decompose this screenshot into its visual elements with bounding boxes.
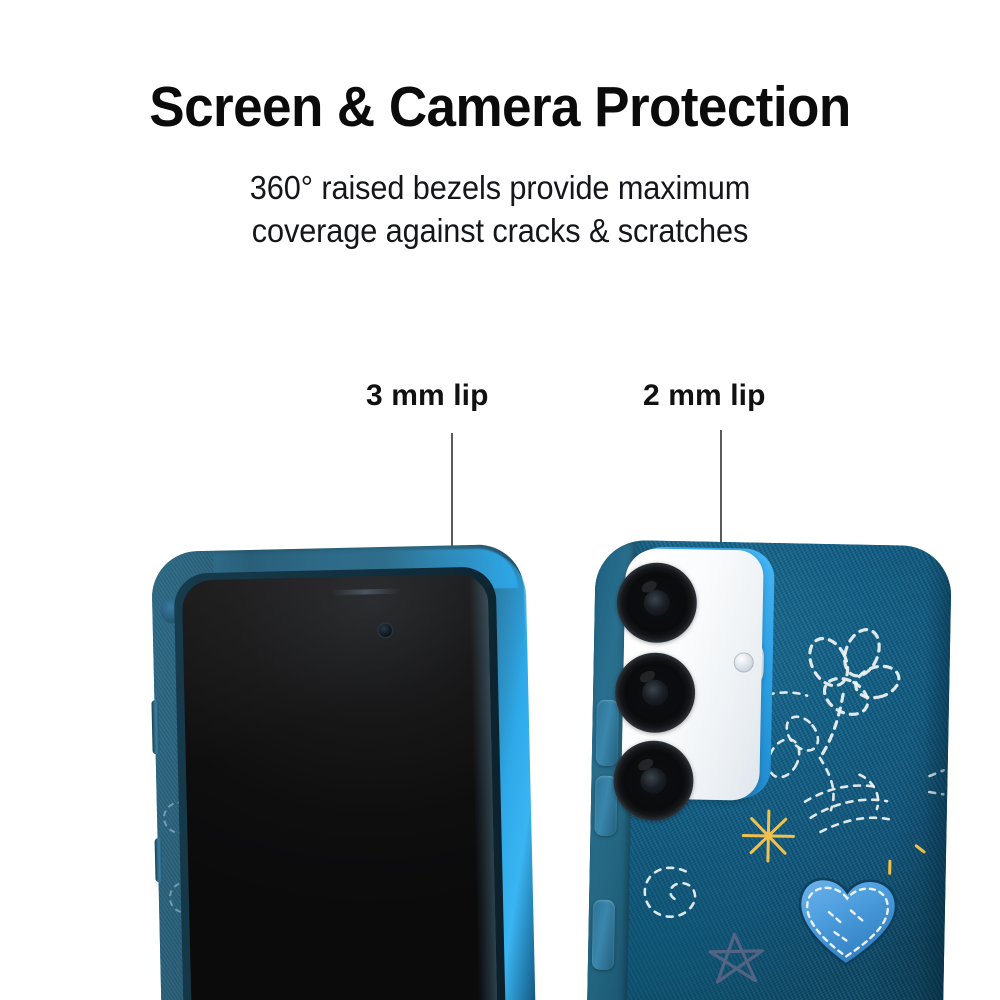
volume-button-left-device xyxy=(151,700,159,754)
subtitle-line-1: 360° raised bezels provide maximum xyxy=(35,166,965,209)
flower-stitch-motif xyxy=(762,623,904,812)
callout-label-screen-lip: 3 mm lip xyxy=(366,379,489,413)
sparkle-star-gold xyxy=(743,810,794,861)
screen-sheen xyxy=(182,574,498,824)
device-front-view xyxy=(151,544,534,1000)
product-feature-panel: Screen & Camera Protection 360° raised b… xyxy=(0,0,1000,1000)
denim-heart-patch xyxy=(799,879,897,966)
callout-leader-line-camera-lip xyxy=(720,430,722,550)
power-button-left-device xyxy=(155,838,163,882)
sketched-star-motif xyxy=(710,934,763,983)
subtitle-line-2: coverage against cracks & scratches xyxy=(35,209,965,252)
volume-up-button xyxy=(596,700,619,766)
device-back-view xyxy=(587,540,952,1000)
spiral-swirl-stitch xyxy=(644,867,695,917)
page-title: Screen & Camera Protection xyxy=(35,78,965,138)
case-shell-right xyxy=(587,540,952,1000)
power-button-right-device xyxy=(592,900,615,970)
device-screen xyxy=(182,574,498,1000)
callout-label-camera-lip: 2 mm lip xyxy=(643,379,766,413)
page-subtitle: 360° raised bezels provide maximum cover… xyxy=(35,166,965,252)
